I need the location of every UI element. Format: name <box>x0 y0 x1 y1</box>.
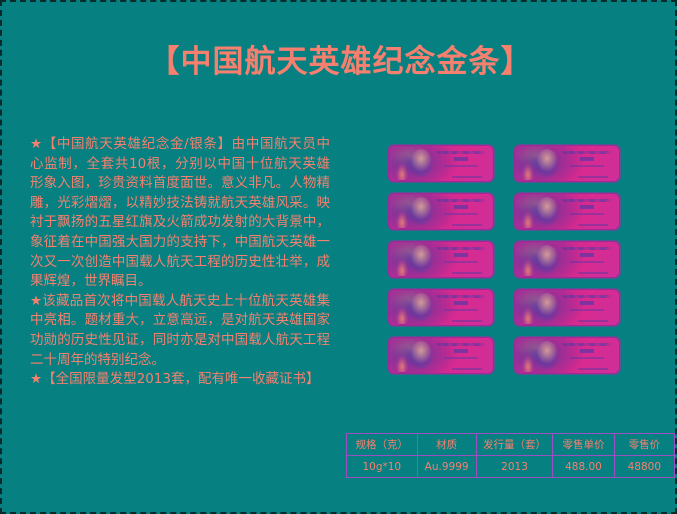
gold-bar-gallery <box>388 145 620 374</box>
gold-bar-item <box>388 145 494 182</box>
bar-engraving <box>562 151 612 167</box>
table-cell-issue: 2013 <box>476 456 553 478</box>
astronaut-portrait <box>536 197 558 225</box>
bar-engraving <box>436 343 486 359</box>
bar-engraving <box>562 295 612 311</box>
bar-engraving <box>436 295 486 311</box>
product-description: ★【中国航天英雄纪念金/银条】由中国航天员中心监制，全套共10根，分别以中国十位… <box>30 135 330 390</box>
table-header-spec: 规格（克） <box>347 434 418 456</box>
gold-bar-item <box>388 289 494 326</box>
table-header-issue: 发行量（套） <box>476 434 553 456</box>
astronaut-portrait <box>410 197 432 225</box>
rocket-flame-icon <box>520 202 536 228</box>
rocket-flame-icon <box>394 346 410 372</box>
bar-engraving <box>562 199 612 215</box>
specification-table: 规格（克） 材质 发行量（套） 零售单价 零售价 10g*10 Au.9999 … <box>346 433 675 478</box>
astronaut-portrait <box>536 293 558 321</box>
bar-engraving <box>562 343 612 359</box>
rocket-flame-icon <box>520 298 536 324</box>
table-row: 10g*10 Au.9999 2013 488.00 48800 <box>347 456 675 478</box>
gold-bar-item <box>514 241 620 278</box>
gold-bar-item <box>388 337 494 374</box>
gold-bar-item <box>388 241 494 278</box>
bar-seal <box>578 224 608 226</box>
astronaut-portrait <box>536 341 558 369</box>
astronaut-portrait <box>410 293 432 321</box>
bar-engraving <box>562 247 612 263</box>
astronaut-portrait <box>410 149 432 177</box>
rocket-flame-icon <box>394 154 410 180</box>
table-header-material: 材质 <box>417 434 476 456</box>
rocket-flame-icon <box>394 298 410 324</box>
rocket-flame-icon <box>520 250 536 276</box>
bar-engraving <box>436 247 486 263</box>
gold-bar-item <box>514 145 620 182</box>
gold-bar-item <box>514 337 620 374</box>
bar-seal <box>578 320 608 322</box>
bar-seal <box>452 320 482 322</box>
gold-bar-item <box>388 193 494 230</box>
page-title: 【中国航天英雄纪念金条】 <box>2 42 677 82</box>
bar-engraving <box>436 151 486 167</box>
table-cell-unit-price: 488.00 <box>553 456 614 478</box>
astronaut-portrait <box>536 245 558 273</box>
table-header-total-price: 零售价 <box>614 434 674 456</box>
rocket-flame-icon <box>394 202 410 228</box>
gold-bar-item <box>514 193 620 230</box>
rocket-flame-icon <box>520 154 536 180</box>
description-paragraph-1: ★【中国航天英雄纪念金/银条】由中国航天员中心监制，全套共10根，分别以中国十位… <box>30 135 330 292</box>
table-header-row: 规格（克） 材质 发行量（套） 零售单价 零售价 <box>347 434 675 456</box>
bar-seal <box>452 224 482 226</box>
rocket-flame-icon <box>394 250 410 276</box>
table-cell-spec: 10g*10 <box>347 456 418 478</box>
table-cell-material: Au.9999 <box>417 456 476 478</box>
bar-seal <box>578 368 608 370</box>
gold-bar-item <box>514 289 620 326</box>
bar-engraving <box>436 199 486 215</box>
rocket-flame-icon <box>520 346 536 372</box>
table-header-unit-price: 零售单价 <box>553 434 614 456</box>
bar-seal <box>452 368 482 370</box>
astronaut-portrait <box>410 245 432 273</box>
astronaut-portrait <box>536 149 558 177</box>
table-cell-total-price: 48800 <box>614 456 674 478</box>
description-paragraph-3: ★【全国限量发型2013套，配有唯一收藏证书】 <box>30 370 330 390</box>
bar-seal <box>578 176 608 178</box>
description-paragraph-2: ★该藏品首次将中国载人航天史上十位航天英雄集中亮相。题材重大，立意高远，是对航天… <box>30 292 330 370</box>
bar-seal <box>452 176 482 178</box>
bar-seal <box>452 272 482 274</box>
poster-page: 【中国航天英雄纪念金条】 ★【中国航天英雄纪念金/银条】由中国航天员中心监制，全… <box>0 0 677 514</box>
bar-seal <box>578 272 608 274</box>
astronaut-portrait <box>410 341 432 369</box>
